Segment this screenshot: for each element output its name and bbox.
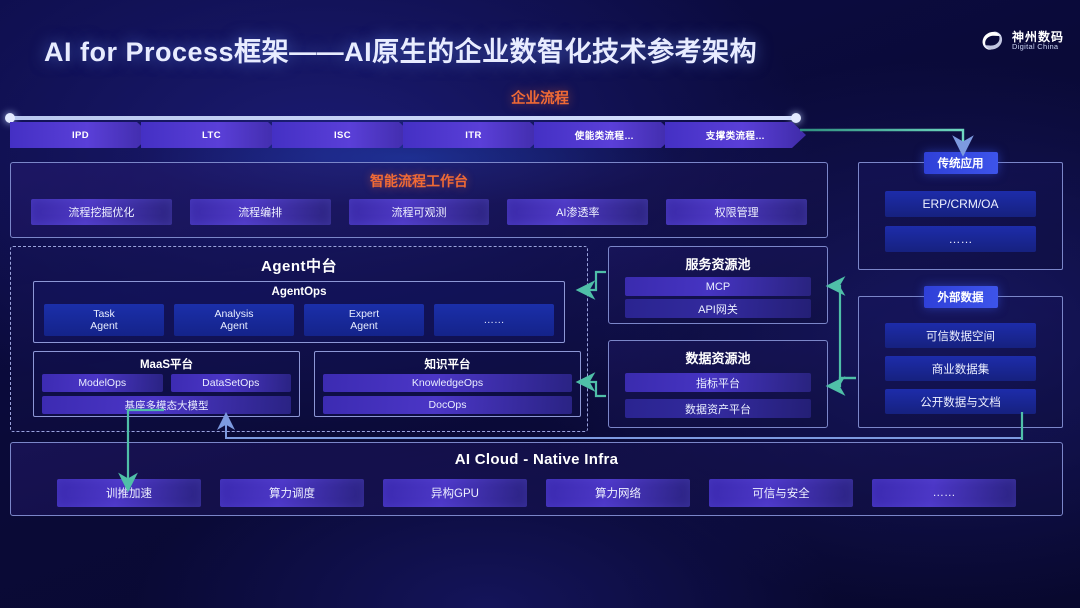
maas-item-1[interactable]: ModelOps	[42, 374, 163, 392]
infra-item-6[interactable]: ……	[872, 479, 1016, 507]
maas-item-2[interactable]: DataSetOps	[171, 374, 292, 392]
external-data-item-2[interactable]: 商业数据集	[885, 356, 1036, 381]
workbench-item-4[interactable]: AI渗透率	[507, 199, 648, 225]
external-data-panel: 外部数据 可信数据空间商业数据集公开数据与文档	[858, 296, 1063, 428]
infra-item-2[interactable]: 算力调度	[220, 479, 364, 507]
knowledge-item-1[interactable]: KnowledgeOps	[323, 374, 572, 392]
legacy-apps-panel: 传统应用 ERP/CRM/OA……	[858, 162, 1063, 270]
agent-card-line1: Analysis	[214, 308, 253, 320]
service-pool-item-2-1[interactable]: API网关	[625, 299, 811, 318]
process-step-1[interactable]: IPD	[10, 122, 151, 148]
knowledge-item-2-1[interactable]: DocOps	[323, 396, 572, 414]
agent-card-line1: ……	[484, 314, 505, 326]
external-data-badge: 外部数据	[924, 286, 998, 308]
process-step-2[interactable]: LTC	[141, 122, 282, 148]
agent-card-3[interactable]: ExpertAgent	[304, 304, 424, 336]
process-step-6[interactable]: 支撑类流程…	[665, 122, 806, 148]
knowledge-row-2: DocOps	[323, 396, 572, 414]
agent-card-line2: Agent	[350, 320, 377, 332]
knowledge-title: 知识平台	[315, 356, 580, 372]
infra-item-1[interactable]: 训推加速	[57, 479, 201, 507]
process-step-4[interactable]: ITR	[403, 122, 544, 148]
brand-logo: 神州数码 Digital China	[979, 28, 1064, 54]
agentops-panel: AgentOps TaskAgentAnalysisAgentExpertAge…	[33, 281, 565, 343]
agent-card-1[interactable]: TaskAgent	[44, 304, 164, 336]
data-pool-item-2-1[interactable]: 数据资产平台	[625, 399, 811, 418]
external-data-item-1[interactable]: 可信数据空间	[885, 323, 1036, 348]
infra-panel: AI Cloud - Native Infra 训推加速算力调度异构GPU算力网…	[10, 442, 1063, 516]
data-pool-title: 数据资源池	[609, 348, 827, 367]
process-chevron-group: IPDLTCISCITR使能类流程…支撑类流程…	[10, 122, 796, 148]
page-title: AI for Process框架——AI原生的企业数智化技术参考架构	[44, 30, 757, 69]
agent-card-line2: Agent	[220, 320, 247, 332]
external-data-item-3[interactable]: 公开数据与文档	[885, 389, 1036, 414]
knowledge-platform-panel: 知识平台 KnowledgeOps DocOps	[314, 351, 581, 417]
legacy-apps-badge: 传统应用	[924, 152, 998, 174]
agent-card-4[interactable]: ……	[434, 304, 554, 336]
workbench-title: 智能流程工作台	[11, 171, 827, 191]
agentops-title: AgentOps	[34, 286, 564, 298]
workbench-items: 流程挖掘优化流程编排流程可观测AI渗透率权限管理	[31, 199, 807, 225]
data-pool-item-1[interactable]: 指标平台	[625, 373, 811, 392]
data-pool-panel: 数据资源池 指标平台 数据资产平台	[608, 340, 828, 428]
knowledge-row-1: KnowledgeOps	[323, 374, 572, 392]
service-pool-row-2: API网关	[625, 299, 811, 318]
slide-canvas: AI for Process框架——AI原生的企业数智化技术参考架构 神州数码 …	[0, 0, 1080, 608]
agentops-items: TaskAgentAnalysisAgentExpertAgent……	[44, 304, 554, 336]
maas-title: MaaS平台	[34, 356, 299, 372]
maas-row-2: 基座多模态大模型	[42, 396, 291, 414]
workbench-item-2[interactable]: 流程编排	[190, 199, 331, 225]
infra-item-5[interactable]: 可信与安全	[709, 479, 853, 507]
agent-platform-panel: Agent中台 AgentOps TaskAgentAnalysisAgentE…	[10, 246, 588, 432]
maas-base-model-1[interactable]: 基座多模态大模型	[42, 396, 291, 414]
service-pool-item-1[interactable]: MCP	[625, 277, 811, 296]
service-pool-panel: 服务资源池 MCP API网关	[608, 246, 828, 324]
infra-item-4[interactable]: 算力网络	[546, 479, 690, 507]
agent-platform-title: Agent中台	[11, 255, 587, 276]
agent-card-2[interactable]: AnalysisAgent	[174, 304, 294, 336]
infra-title: AI Cloud - Native Infra	[11, 451, 1062, 468]
legacy-apps-items: ERP/CRM/OA……	[885, 191, 1036, 252]
infra-items: 训推加速算力调度异构GPU算力网络可信与安全……	[57, 479, 1016, 507]
process-rail	[10, 116, 796, 120]
service-pool-row-1: MCP	[625, 277, 811, 296]
data-pool-row-2: 数据资产平台	[625, 399, 811, 418]
process-flow-label: 企业流程	[0, 87, 1080, 108]
maas-platform-panel: MaaS平台 ModelOpsDataSetOps 基座多模态大模型	[33, 351, 300, 417]
workbench-item-5[interactable]: 权限管理	[666, 199, 807, 225]
legacy-app-item-2[interactable]: ……	[885, 226, 1036, 252]
workbench-panel: 智能流程工作台 流程挖掘优化流程编排流程可观测AI渗透率权限管理	[10, 162, 828, 238]
process-step-3[interactable]: ISC	[272, 122, 413, 148]
workbench-item-1[interactable]: 流程挖掘优化	[31, 199, 172, 225]
logo-text-en: Digital China	[1012, 43, 1064, 51]
data-pool-row-1: 指标平台	[625, 373, 811, 392]
process-step-5[interactable]: 使能类流程…	[534, 122, 675, 148]
infra-item-3[interactable]: 异构GPU	[383, 479, 527, 507]
service-pool-title: 服务资源池	[609, 254, 827, 273]
workbench-item-3[interactable]: 流程可观测	[349, 199, 490, 225]
agent-card-line1: Task	[93, 308, 115, 320]
external-data-items: 可信数据空间商业数据集公开数据与文档	[885, 323, 1036, 414]
agent-card-line1: Expert	[349, 308, 379, 320]
agent-card-line2: Agent	[90, 320, 117, 332]
maas-row-1: ModelOpsDataSetOps	[42, 374, 291, 392]
swirl-icon	[979, 28, 1005, 54]
legacy-app-item-1[interactable]: ERP/CRM/OA	[885, 191, 1036, 217]
